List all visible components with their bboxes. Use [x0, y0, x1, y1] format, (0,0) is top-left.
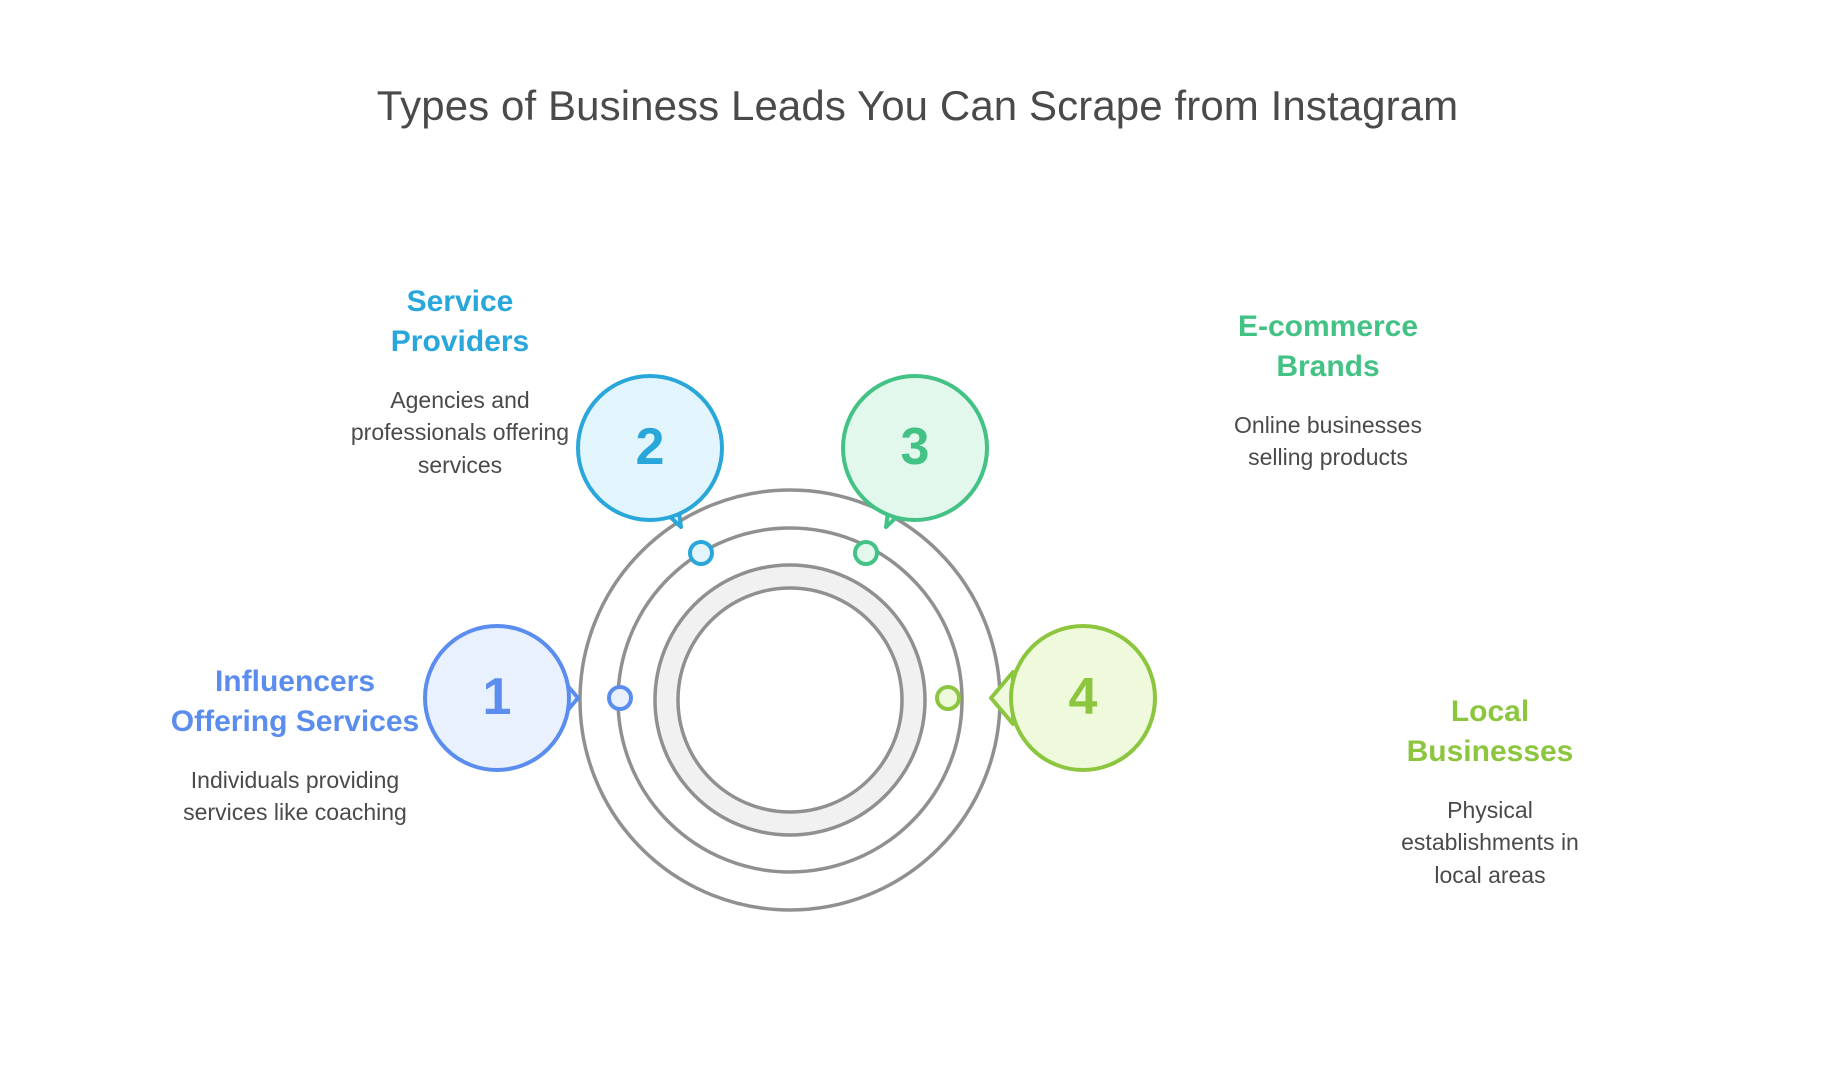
infographic-canvas: Types of Business Leads You Can Scrape f… [0, 0, 1835, 1080]
ring-dot-1 [609, 687, 631, 709]
ring-dot-2 [690, 542, 712, 564]
item-description-4: Physical establishments in local areas [1375, 794, 1605, 892]
item-title-3: E-commerce Brands [1203, 307, 1453, 387]
callout-number-4: 4 [1069, 671, 1098, 723]
callout-bubble-4[interactable]: 4 [1009, 624, 1157, 772]
ring-inner [678, 588, 902, 812]
ring-third [655, 565, 925, 835]
ring-outer [580, 490, 1000, 910]
page-title: Types of Business Leads You Can Scrape f… [368, 80, 1468, 132]
item-description-2: Agencies and professionals offering serv… [350, 384, 570, 482]
callout-bubble-1[interactable]: 1 [423, 624, 571, 772]
item-description-1: Individuals providing services like coac… [155, 764, 435, 829]
ring-dot-4 [937, 687, 959, 709]
callout-number-1: 1 [483, 671, 512, 723]
item-text-block-1: Influencers Offering Services Individual… [155, 662, 435, 829]
callout-number-3: 3 [901, 421, 930, 473]
item-title-2: Service Providers [350, 282, 570, 362]
callout-number-2: 2 [636, 421, 665, 473]
item-title-1: Influencers Offering Services [155, 662, 435, 742]
central-ring-diagram [0, 0, 1835, 1080]
ring-band [667, 577, 914, 824]
ring-dot-3 [855, 542, 877, 564]
item-title-4: Local Businesses [1375, 692, 1605, 772]
item-text-block-3: E-commerce Brands Online businesses sell… [1203, 307, 1453, 474]
callout-bubble-3[interactable]: 3 [841, 374, 989, 522]
item-text-block-4: Local Businesses Physical establishments… [1375, 692, 1605, 892]
ring-second [618, 528, 962, 872]
item-description-3: Online businesses selling products [1203, 409, 1453, 474]
item-text-block-2: Service Providers Agencies and professio… [350, 282, 570, 482]
callout-bubble-2[interactable]: 2 [576, 374, 724, 522]
